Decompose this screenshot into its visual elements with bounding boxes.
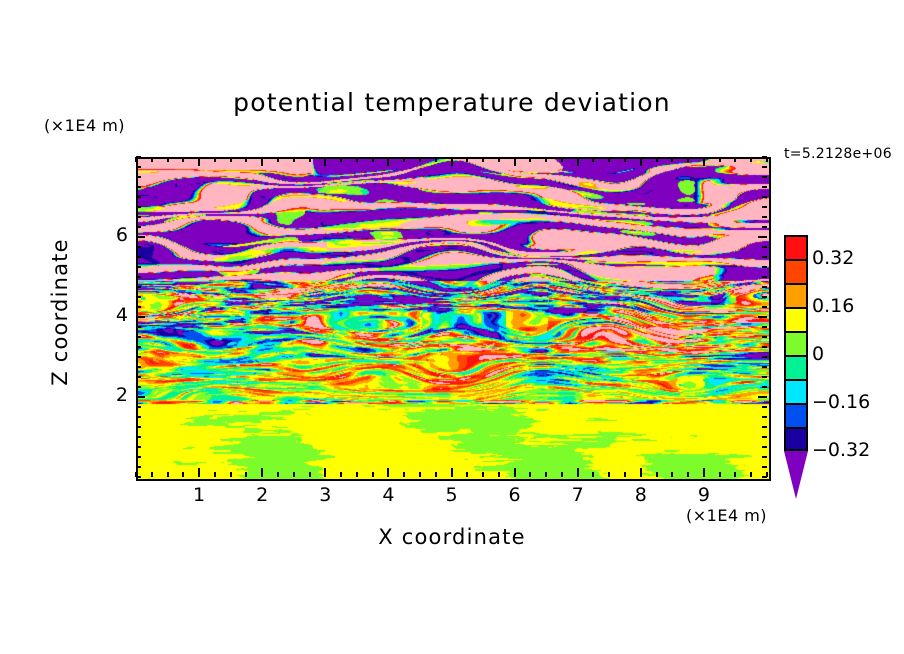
x-tick-top xyxy=(340,157,342,162)
x-tick-bottom xyxy=(403,472,405,477)
x-tick-bottom xyxy=(261,468,263,477)
colorbar-band xyxy=(784,307,808,331)
x-tick-top xyxy=(608,157,610,162)
x-tick-bottom xyxy=(656,472,658,477)
x-tick-bottom xyxy=(592,472,594,477)
y-tick-right xyxy=(762,296,767,298)
x-tick-top xyxy=(561,157,563,162)
y-axis-title: Z coordinate xyxy=(48,212,72,412)
x-tick-bottom xyxy=(372,472,374,477)
y-tick-left xyxy=(136,176,141,178)
x-tick-bottom xyxy=(245,472,247,477)
z-axis-units-label: (×1E4 m) xyxy=(44,116,125,135)
y-tick-left xyxy=(136,446,141,448)
y-tick-right xyxy=(762,336,767,338)
x-tick-bottom xyxy=(340,472,342,477)
x-tick-top xyxy=(466,157,468,162)
colorbar-extend-high xyxy=(784,195,808,235)
y-tick-right xyxy=(758,316,767,318)
y-tick-label: 6 xyxy=(88,224,128,246)
x-tick-top xyxy=(624,157,626,162)
y-tick-right xyxy=(762,446,767,448)
x-tick-bottom xyxy=(529,472,531,477)
y-tick-right xyxy=(762,176,767,178)
y-tick-right xyxy=(762,376,767,378)
x-tick-label: 6 xyxy=(495,484,535,506)
figure-canvas: potential temperature deviation (×1E4 m)… xyxy=(0,0,904,654)
colorbar-band xyxy=(784,331,808,355)
y-tick-left xyxy=(136,426,141,428)
x-tick-top xyxy=(514,157,516,166)
x-tick-top xyxy=(198,157,200,166)
x-tick-bottom xyxy=(230,472,232,477)
x-tick-top xyxy=(403,157,405,162)
contour-plot-area xyxy=(136,157,771,481)
y-tick-left xyxy=(136,416,141,418)
x-axis-units-label: (×1E4 m) xyxy=(686,506,767,525)
y-tick-left xyxy=(136,456,141,458)
x-tick-bottom xyxy=(482,472,484,477)
y-tick-left xyxy=(136,186,141,188)
y-tick-right xyxy=(762,346,767,348)
y-tick-right xyxy=(762,356,767,358)
y-tick-right xyxy=(762,416,767,418)
y-tick-left xyxy=(136,346,141,348)
x-tick-bottom xyxy=(640,468,642,477)
x-tick-bottom xyxy=(182,472,184,477)
x-tick-label: 9 xyxy=(684,484,724,506)
x-tick-bottom xyxy=(435,472,437,477)
y-tick-right xyxy=(762,186,767,188)
y-tick-left xyxy=(136,386,141,388)
y-tick-left xyxy=(136,326,141,328)
y-tick-left xyxy=(136,286,141,288)
x-tick-top xyxy=(372,157,374,162)
y-tick-right xyxy=(762,466,767,468)
x-tick-top xyxy=(230,157,232,162)
x-tick-bottom xyxy=(734,472,736,477)
y-tick-right xyxy=(762,196,767,198)
y-tick-left xyxy=(136,376,141,378)
x-tick-label: 1 xyxy=(179,484,219,506)
y-tick-right xyxy=(762,276,767,278)
y-tick-left xyxy=(136,466,141,468)
timestamp-annotation: t=5.2128e+06 xyxy=(784,146,892,162)
x-tick-bottom xyxy=(277,472,279,477)
x-tick-bottom xyxy=(356,472,358,477)
y-tick-right xyxy=(762,156,767,158)
x-tick-bottom xyxy=(624,472,626,477)
y-tick-left xyxy=(136,396,145,398)
x-tick-top xyxy=(435,157,437,162)
y-tick-left xyxy=(136,296,141,298)
y-tick-left xyxy=(136,336,141,338)
y-tick-left xyxy=(136,246,141,248)
colorbar-tick-label: 0 xyxy=(812,343,824,365)
y-tick-right xyxy=(762,426,767,428)
y-tick-right xyxy=(762,216,767,218)
y-tick-left xyxy=(136,266,141,268)
y-tick-right xyxy=(762,286,767,288)
colorbar-band xyxy=(784,235,808,259)
y-tick-left xyxy=(136,206,141,208)
x-tick-bottom xyxy=(498,472,500,477)
colorbar-band xyxy=(784,379,808,403)
y-tick-left xyxy=(136,436,141,438)
x-axis-title: X coordinate xyxy=(0,525,904,549)
x-tick-bottom xyxy=(451,468,453,477)
y-tick-right xyxy=(762,476,767,478)
x-tick-top xyxy=(734,157,736,162)
x-tick-bottom xyxy=(387,468,389,477)
x-tick-top xyxy=(671,157,673,162)
y-tick-right xyxy=(762,436,767,438)
x-tick-bottom xyxy=(293,472,295,477)
x-tick-bottom xyxy=(561,472,563,477)
y-tick-left xyxy=(136,166,141,168)
colorbar-tick-label: 0.16 xyxy=(812,295,854,317)
colorbar-band xyxy=(784,403,808,427)
x-tick-bottom xyxy=(324,468,326,477)
x-tick-top xyxy=(529,157,531,162)
y-tick-left xyxy=(136,276,141,278)
x-tick-top xyxy=(640,157,642,166)
x-tick-top xyxy=(356,157,358,162)
x-tick-top xyxy=(498,157,500,162)
x-tick-bottom xyxy=(687,472,689,477)
y-tick-left xyxy=(136,476,141,478)
colorbar-band xyxy=(784,283,808,307)
x-tick-top xyxy=(687,157,689,162)
y-tick-left xyxy=(136,356,141,358)
y-tick-left xyxy=(136,226,141,228)
x-tick-bottom xyxy=(198,468,200,477)
y-tick-right xyxy=(762,306,767,308)
y-tick-right xyxy=(762,326,767,328)
x-tick-top xyxy=(451,157,453,166)
x-tick-top xyxy=(214,157,216,162)
colorbar-extend-low xyxy=(784,451,808,499)
page-title: potential temperature deviation xyxy=(0,88,904,117)
y-tick-right xyxy=(762,256,767,258)
colorbar-tick-label: −0.16 xyxy=(812,391,870,413)
x-tick-top xyxy=(182,157,184,162)
y-tick-left xyxy=(136,366,141,368)
y-tick-left xyxy=(136,256,141,258)
y-tick-left xyxy=(136,406,141,408)
y-tick-right xyxy=(758,396,767,398)
x-tick-bottom xyxy=(514,468,516,477)
x-tick-top xyxy=(577,157,579,166)
x-tick-top xyxy=(719,157,721,162)
x-tick-top xyxy=(261,157,263,166)
x-tick-bottom xyxy=(309,472,311,477)
y-tick-right xyxy=(762,266,767,268)
x-tick-top xyxy=(324,157,326,166)
y-tick-right xyxy=(762,226,767,228)
x-tick-bottom xyxy=(719,472,721,477)
colorbar-tick-label: −0.32 xyxy=(812,439,870,461)
x-tick-bottom xyxy=(545,472,547,477)
contour-field xyxy=(138,159,769,479)
x-tick-bottom xyxy=(608,472,610,477)
x-tick-bottom xyxy=(151,472,153,477)
x-tick-top xyxy=(592,157,594,162)
y-tick-left xyxy=(136,306,141,308)
x-tick-top xyxy=(419,157,421,162)
y-tick-left xyxy=(136,316,145,318)
y-tick-right xyxy=(762,166,767,168)
y-tick-right xyxy=(762,246,767,248)
colorbar-tick-label: 0.32 xyxy=(812,247,854,269)
x-tick-top xyxy=(750,157,752,162)
x-tick-bottom xyxy=(671,472,673,477)
x-tick-top xyxy=(309,157,311,162)
x-tick-top xyxy=(656,157,658,162)
y-tick-right xyxy=(762,406,767,408)
y-tick-right xyxy=(758,236,767,238)
y-tick-label: 2 xyxy=(88,384,128,406)
x-tick-bottom xyxy=(577,468,579,477)
y-tick-left xyxy=(136,196,141,198)
x-tick-top xyxy=(277,157,279,162)
y-tick-label: 4 xyxy=(88,304,128,326)
x-tick-bottom xyxy=(167,472,169,477)
x-tick-top xyxy=(703,157,705,166)
x-tick-label: 4 xyxy=(368,484,408,506)
x-tick-bottom xyxy=(214,472,216,477)
x-tick-top xyxy=(482,157,484,162)
colorbar-band xyxy=(784,259,808,283)
x-tick-label: 3 xyxy=(305,484,345,506)
y-tick-left xyxy=(136,236,145,238)
colorbar[interactable] xyxy=(784,195,808,525)
x-tick-label: 8 xyxy=(621,484,661,506)
x-tick-top xyxy=(245,157,247,162)
y-tick-left xyxy=(136,216,141,218)
x-tick-bottom xyxy=(750,472,752,477)
x-tick-label: 5 xyxy=(432,484,472,506)
y-tick-right xyxy=(762,206,767,208)
y-tick-right xyxy=(762,456,767,458)
x-tick-label: 2 xyxy=(242,484,282,506)
y-tick-right xyxy=(762,366,767,368)
x-tick-bottom xyxy=(703,468,705,477)
x-tick-top xyxy=(293,157,295,162)
x-tick-top xyxy=(151,157,153,162)
x-tick-top xyxy=(387,157,389,166)
x-tick-top xyxy=(545,157,547,162)
x-tick-bottom xyxy=(419,472,421,477)
y-tick-right xyxy=(762,386,767,388)
colorbar-band xyxy=(784,355,808,379)
x-tick-label: 7 xyxy=(558,484,598,506)
y-tick-left xyxy=(136,156,141,158)
x-tick-bottom xyxy=(466,472,468,477)
x-tick-top xyxy=(167,157,169,162)
colorbar-band xyxy=(784,427,808,451)
